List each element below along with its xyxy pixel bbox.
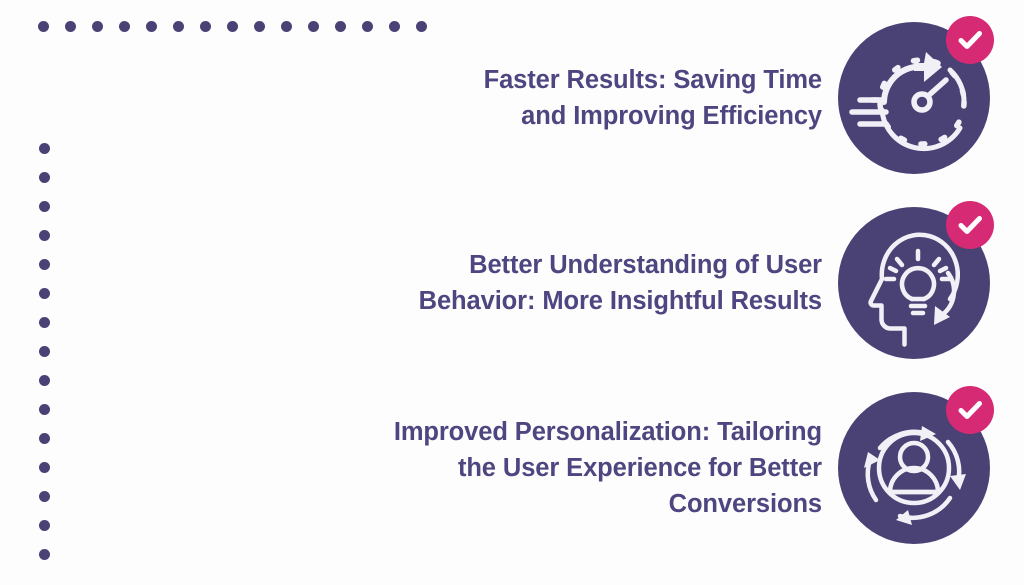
benefit-item-user-behavior: Better Understanding of User Behavior: M… (419, 207, 990, 359)
check-badge-icon (946, 201, 994, 249)
benefit-label: Improved Personalization: Tailoring the … (394, 414, 822, 523)
benefit-item-personalization: Improved Personalization: Tailoring the … (394, 392, 990, 544)
benefit-list: Faster Results: Saving Time and Improvin… (0, 0, 1024, 585)
benefit-icon-wrap (838, 22, 990, 174)
benefit-label: Better Understanding of User Behavior: M… (419, 247, 822, 319)
benefit-icon-wrap (838, 207, 990, 359)
benefit-icon-wrap (838, 392, 990, 544)
check-badge-icon (946, 386, 994, 434)
benefit-item-faster-results: Faster Results: Saving Time and Improvin… (484, 22, 990, 174)
benefit-label: Faster Results: Saving Time and Improvin… (484, 62, 822, 134)
check-badge-icon (946, 16, 994, 64)
infographic-canvas: Faster Results: Saving Time and Improvin… (0, 0, 1024, 585)
